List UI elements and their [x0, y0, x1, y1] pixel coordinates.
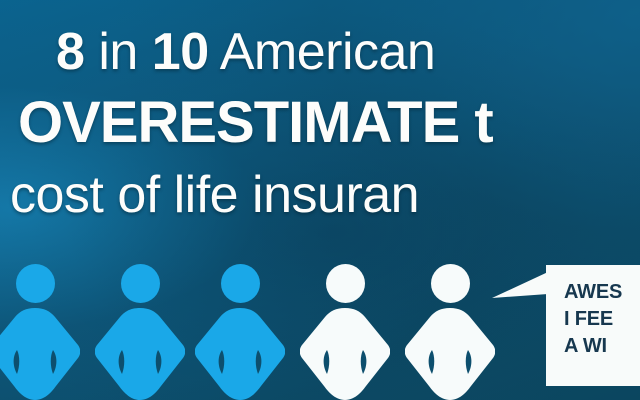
- headline-line-2: OVERESTIMATE t: [0, 90, 640, 156]
- person-icon-5: [402, 258, 498, 400]
- speech-bubble: AWES I FEE A WI: [546, 265, 640, 386]
- speech-bubble-text: AWES I FEE A WI: [564, 279, 640, 360]
- headline-subject: American: [209, 23, 436, 81]
- person-body-icon: [0, 308, 80, 400]
- person-body-icon: [195, 308, 285, 400]
- person-body-icon: [300, 308, 390, 400]
- headline-connector: in: [84, 23, 151, 81]
- headline-line-1: 8 in 10 American: [0, 22, 640, 82]
- person-head-icon: [326, 264, 365, 303]
- person-head-icon: [121, 264, 160, 303]
- headline-stat-denominator: 10: [152, 23, 209, 81]
- person-icon-1: [0, 258, 83, 400]
- person-head-icon: [16, 264, 55, 303]
- speech-bubble-line-1: AWES: [564, 279, 640, 306]
- speech-bubble-line-3: A WI: [564, 333, 640, 360]
- person-head-icon: [431, 264, 470, 303]
- person-icon-3: [192, 258, 288, 400]
- headline-line-3: cost of life insuran: [0, 165, 640, 225]
- person-icon-2: [92, 258, 188, 400]
- infographic-canvas: 8 in 10 American OVERESTIMATE t cost of …: [0, 0, 640, 400]
- person-body-icon: [95, 308, 185, 400]
- speech-bubble-tail-icon: [492, 272, 548, 308]
- speech-bubble-line-2: I FEE: [564, 306, 640, 333]
- person-icon-4: [297, 258, 393, 400]
- person-head-icon: [221, 264, 260, 303]
- person-body-icon: [405, 308, 495, 400]
- headline-stat-numerator: 8: [56, 23, 84, 81]
